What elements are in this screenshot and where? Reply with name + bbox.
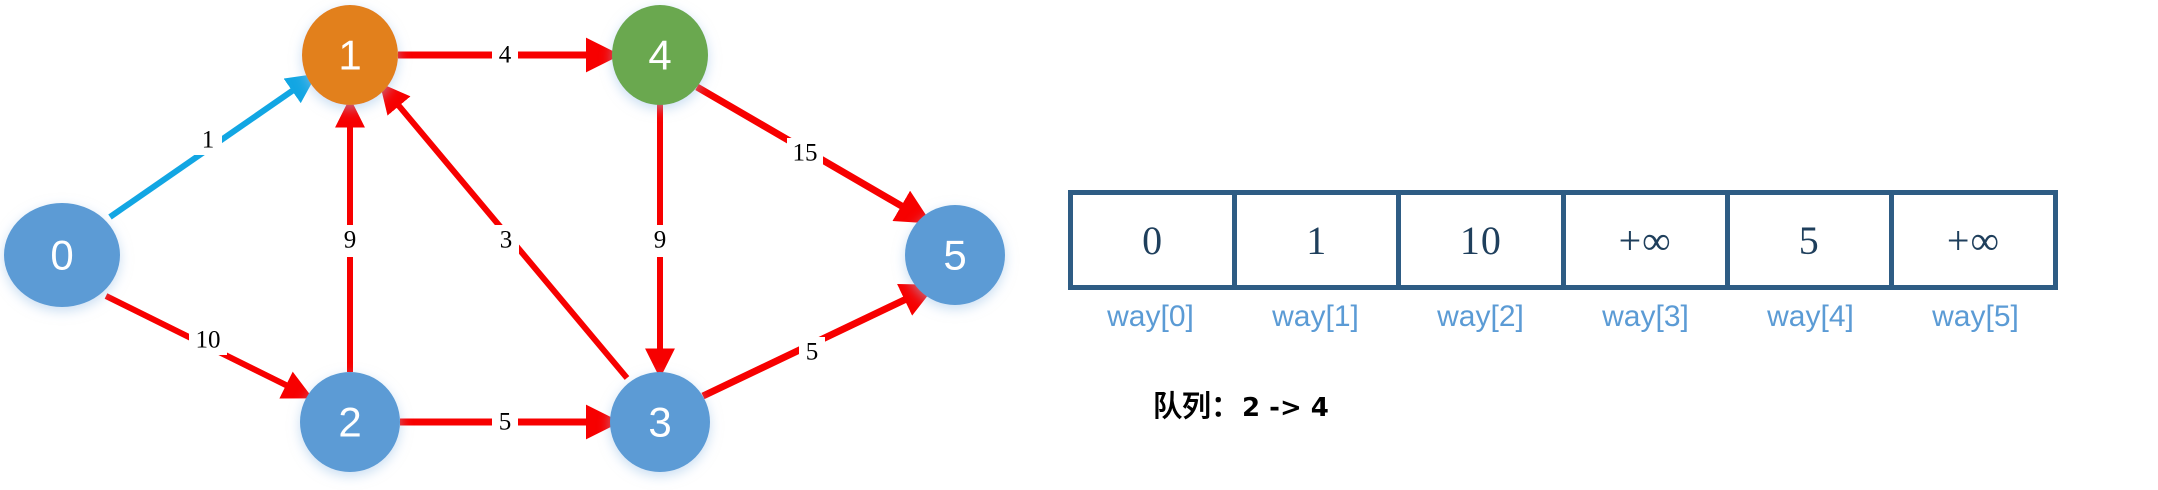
edge-weight-2-1: 9 bbox=[344, 227, 357, 254]
graph-node-3[interactable]: 3 bbox=[610, 372, 710, 472]
way-cell-4[interactable]: 5 bbox=[1730, 195, 1894, 285]
way-label-4: way[4] bbox=[1728, 300, 1893, 334]
graph-node-3-label: 3 bbox=[648, 399, 671, 446]
queue-value: 2 -> 4 bbox=[1242, 393, 1329, 423]
graph-node-0[interactable]: 0 bbox=[4, 203, 120, 307]
graph-canvas: 1 10 9 3 4 9 15 5 5 bbox=[0, 0, 1050, 490]
graph-node-4[interactable]: 4 bbox=[612, 5, 708, 105]
edge-weight-1-4: 4 bbox=[499, 42, 512, 69]
queue-status-line: 队列：2 -> 4 bbox=[1153, 383, 1329, 425]
queue-label: 队列： bbox=[1153, 389, 1240, 423]
graph-node-5-label: 5 bbox=[943, 232, 966, 279]
edge-weight-4-5: 15 bbox=[793, 140, 818, 167]
edge-weight-0-2: 10 bbox=[196, 327, 221, 354]
way-array-table: 0 1 10 +∞ 5 +∞ bbox=[1068, 190, 2058, 290]
graph-node-4-label: 4 bbox=[648, 32, 671, 79]
edge-weight-4-3: 9 bbox=[654, 227, 667, 254]
way-label-0: way[0] bbox=[1068, 300, 1233, 334]
way-cell-0[interactable]: 0 bbox=[1073, 195, 1237, 285]
graph-node-5[interactable]: 5 bbox=[905, 205, 1005, 305]
way-array-labels: way[0] way[1] way[2] way[3] way[4] way[5… bbox=[1068, 300, 2058, 334]
way-label-5: way[5] bbox=[1893, 300, 2058, 334]
way-label-2: way[2] bbox=[1398, 300, 1563, 334]
graph-node-2-label: 2 bbox=[338, 399, 361, 446]
way-label-3: way[3] bbox=[1563, 300, 1728, 334]
graph-panel: 1 10 9 3 4 9 15 5 5 bbox=[0, 0, 1050, 490]
way-array-panel: 0 1 10 +∞ 5 +∞ way[0] way[1] way[2] way[… bbox=[1068, 190, 2058, 334]
edge-weight-0-1: 1 bbox=[202, 127, 215, 154]
graph-node-1-label: 1 bbox=[338, 32, 361, 79]
screenshot-root: 1 10 9 3 4 9 15 5 5 bbox=[0, 0, 2158, 490]
graph-node-2[interactable]: 2 bbox=[300, 372, 400, 472]
way-cell-1[interactable]: 1 bbox=[1237, 195, 1401, 285]
edge-weight-3-1: 3 bbox=[500, 227, 513, 254]
graph-node-0-label: 0 bbox=[50, 232, 73, 279]
edge-weight-2-3: 5 bbox=[499, 409, 512, 436]
way-cell-3[interactable]: +∞ bbox=[1566, 195, 1730, 285]
edge-weight-3-5: 5 bbox=[806, 339, 819, 366]
way-cell-5[interactable]: +∞ bbox=[1894, 195, 2053, 285]
way-cell-2[interactable]: 10 bbox=[1401, 195, 1565, 285]
way-label-1: way[1] bbox=[1233, 300, 1398, 334]
graph-node-1[interactable]: 1 bbox=[302, 5, 398, 105]
